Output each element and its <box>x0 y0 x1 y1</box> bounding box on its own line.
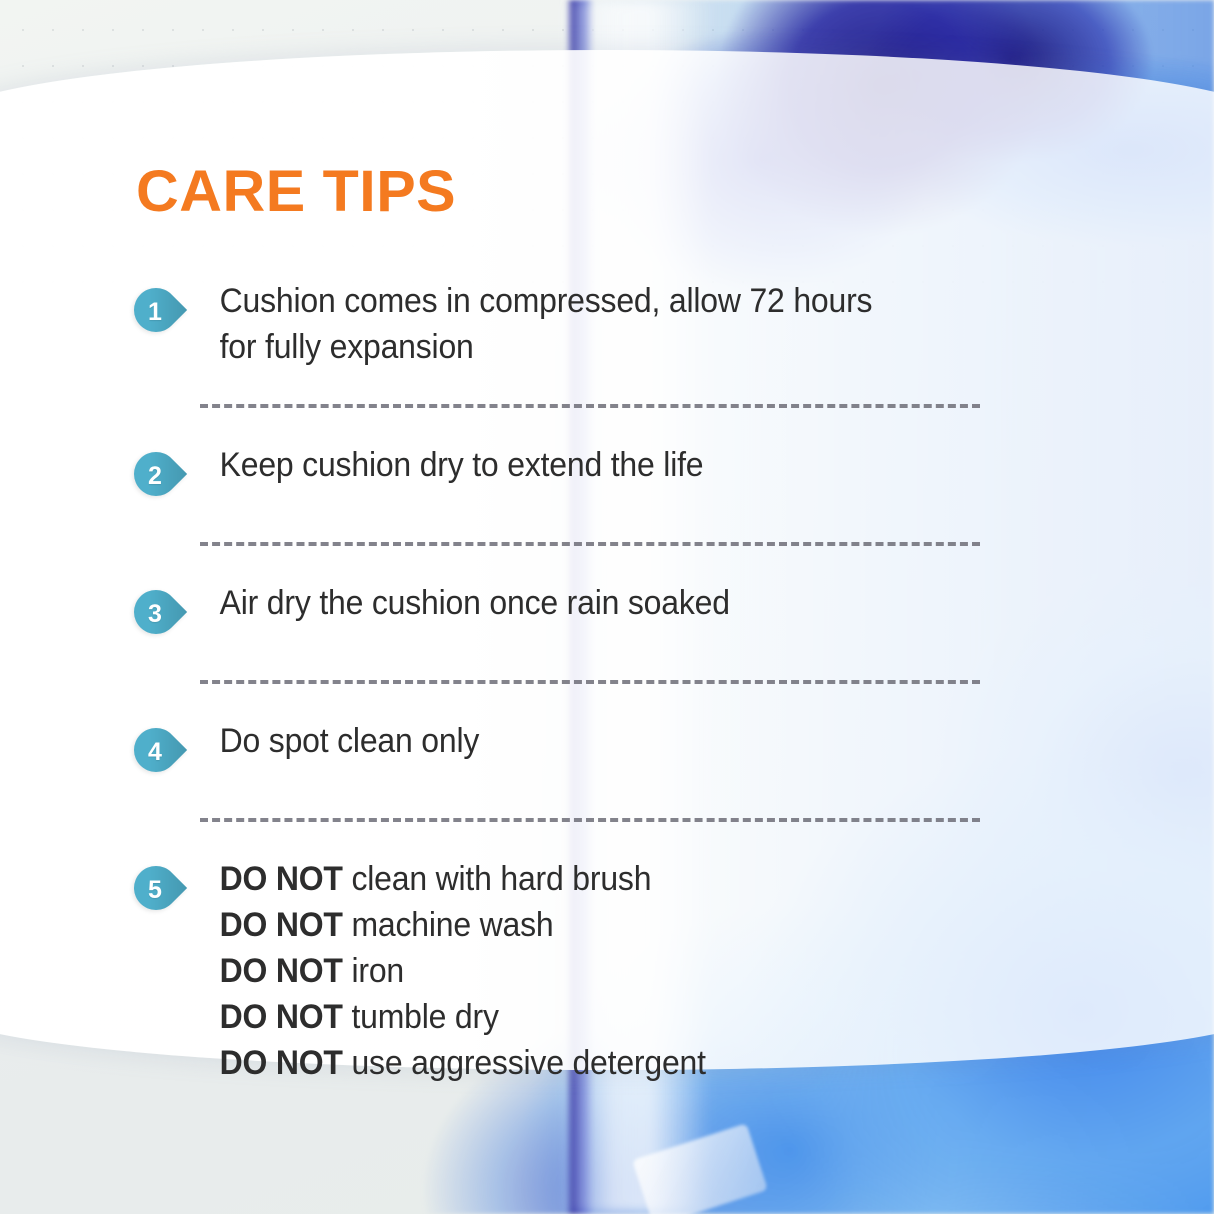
dashed-divider <box>200 818 980 822</box>
spacer <box>0 546 1214 580</box>
care-tip-line-text: Keep cushion dry to extend the life <box>220 446 704 484</box>
care-tip-line: DO NOT clean with hard brush <box>220 856 1152 902</box>
water-drop-icon: 4 <box>130 722 182 784</box>
care-tip-text: Cushion comes in compressed, allow 72 ho… <box>182 278 1152 370</box>
spacer <box>0 646 1214 680</box>
water-drop-icon: 2 <box>130 446 182 508</box>
spacer <box>0 822 1214 856</box>
care-tips-infographic: CARE TIPS 1Cushion comes in compressed, … <box>0 0 1214 1214</box>
water-drop-icon: 5 <box>130 860 182 922</box>
care-tip-line: Air dry the cushion once rain soaked <box>220 580 1152 626</box>
care-tip-line: Do spot clean only <box>220 718 1152 764</box>
dashed-divider <box>200 542 980 546</box>
care-tip-text: Air dry the cushion once rain soaked <box>182 580 1152 626</box>
care-tip-line: Cushion comes in compressed, allow 72 ho… <box>220 278 1152 324</box>
care-tip-line-text: Cushion comes in compressed, allow 72 ho… <box>220 282 873 320</box>
care-tip-item: 4Do spot clean only <box>0 718 1214 784</box>
care-tip-emphasis: DO NOT <box>220 860 343 898</box>
dashed-divider <box>200 680 980 684</box>
care-tip-emphasis: DO NOT <box>220 952 343 990</box>
care-tip-line-text: for fully expansion <box>220 328 474 366</box>
care-tip-emphasis: DO NOT <box>220 1044 343 1082</box>
care-tip-text: DO NOT clean with hard brushDO NOT machi… <box>182 856 1152 1086</box>
care-tip-line-text: use aggressive detergent <box>343 1044 706 1082</box>
care-tip-line: DO NOT tumble dry <box>220 994 1152 1040</box>
water-drop-icon: 3 <box>130 584 182 646</box>
care-tip-line: DO NOT use aggressive detergent <box>220 1040 1152 1086</box>
care-tip-number: 3 <box>130 590 182 638</box>
care-tip-line-text: clean with hard brush <box>343 860 652 898</box>
care-tip-item: 3Air dry the cushion once rain soaked <box>0 580 1214 646</box>
spacer <box>0 370 1214 404</box>
care-tip-item: 2Keep cushion dry to extend the life <box>0 442 1214 508</box>
care-tip-line: Keep cushion dry to extend the life <box>220 442 1152 488</box>
dashed-divider <box>200 404 980 408</box>
care-tip-line-text: Air dry the cushion once rain soaked <box>220 584 730 622</box>
care-tip-number: 5 <box>130 866 182 914</box>
care-tip-emphasis: DO NOT <box>220 998 343 1036</box>
care-tip-line-text: tumble dry <box>343 998 499 1036</box>
care-tip-text: Do spot clean only <box>182 718 1152 764</box>
care-tip-line: for fully expansion <box>220 324 1152 370</box>
spacer <box>0 508 1214 542</box>
care-tip-line-text: iron <box>343 952 404 990</box>
care-tip-number: 4 <box>130 728 182 776</box>
care-tip-number: 1 <box>130 288 182 336</box>
care-tip-line-text: Do spot clean only <box>220 722 480 760</box>
care-tip-item: 5DO NOT clean with hard brushDO NOT mach… <box>0 856 1214 1086</box>
water-drop-icon: 1 <box>130 282 182 344</box>
care-tip-item: 1Cushion comes in compressed, allow 72 h… <box>0 278 1214 370</box>
care-tip-line-text: machine wash <box>343 906 554 944</box>
care-tip-text: Keep cushion dry to extend the life <box>182 442 1152 488</box>
care-tip-number: 2 <box>130 452 182 500</box>
care-tip-emphasis: DO NOT <box>220 906 343 944</box>
spacer <box>0 784 1214 818</box>
page-title: CARE TIPS <box>136 158 456 225</box>
spacer <box>0 684 1214 718</box>
care-tips-list: 1Cushion comes in compressed, allow 72 h… <box>0 278 1214 1086</box>
content-area: CARE TIPS 1Cushion comes in compressed, … <box>0 50 1214 1070</box>
care-tip-line: DO NOT iron <box>220 948 1152 994</box>
care-tip-line: DO NOT machine wash <box>220 902 1152 948</box>
spacer <box>0 408 1214 442</box>
